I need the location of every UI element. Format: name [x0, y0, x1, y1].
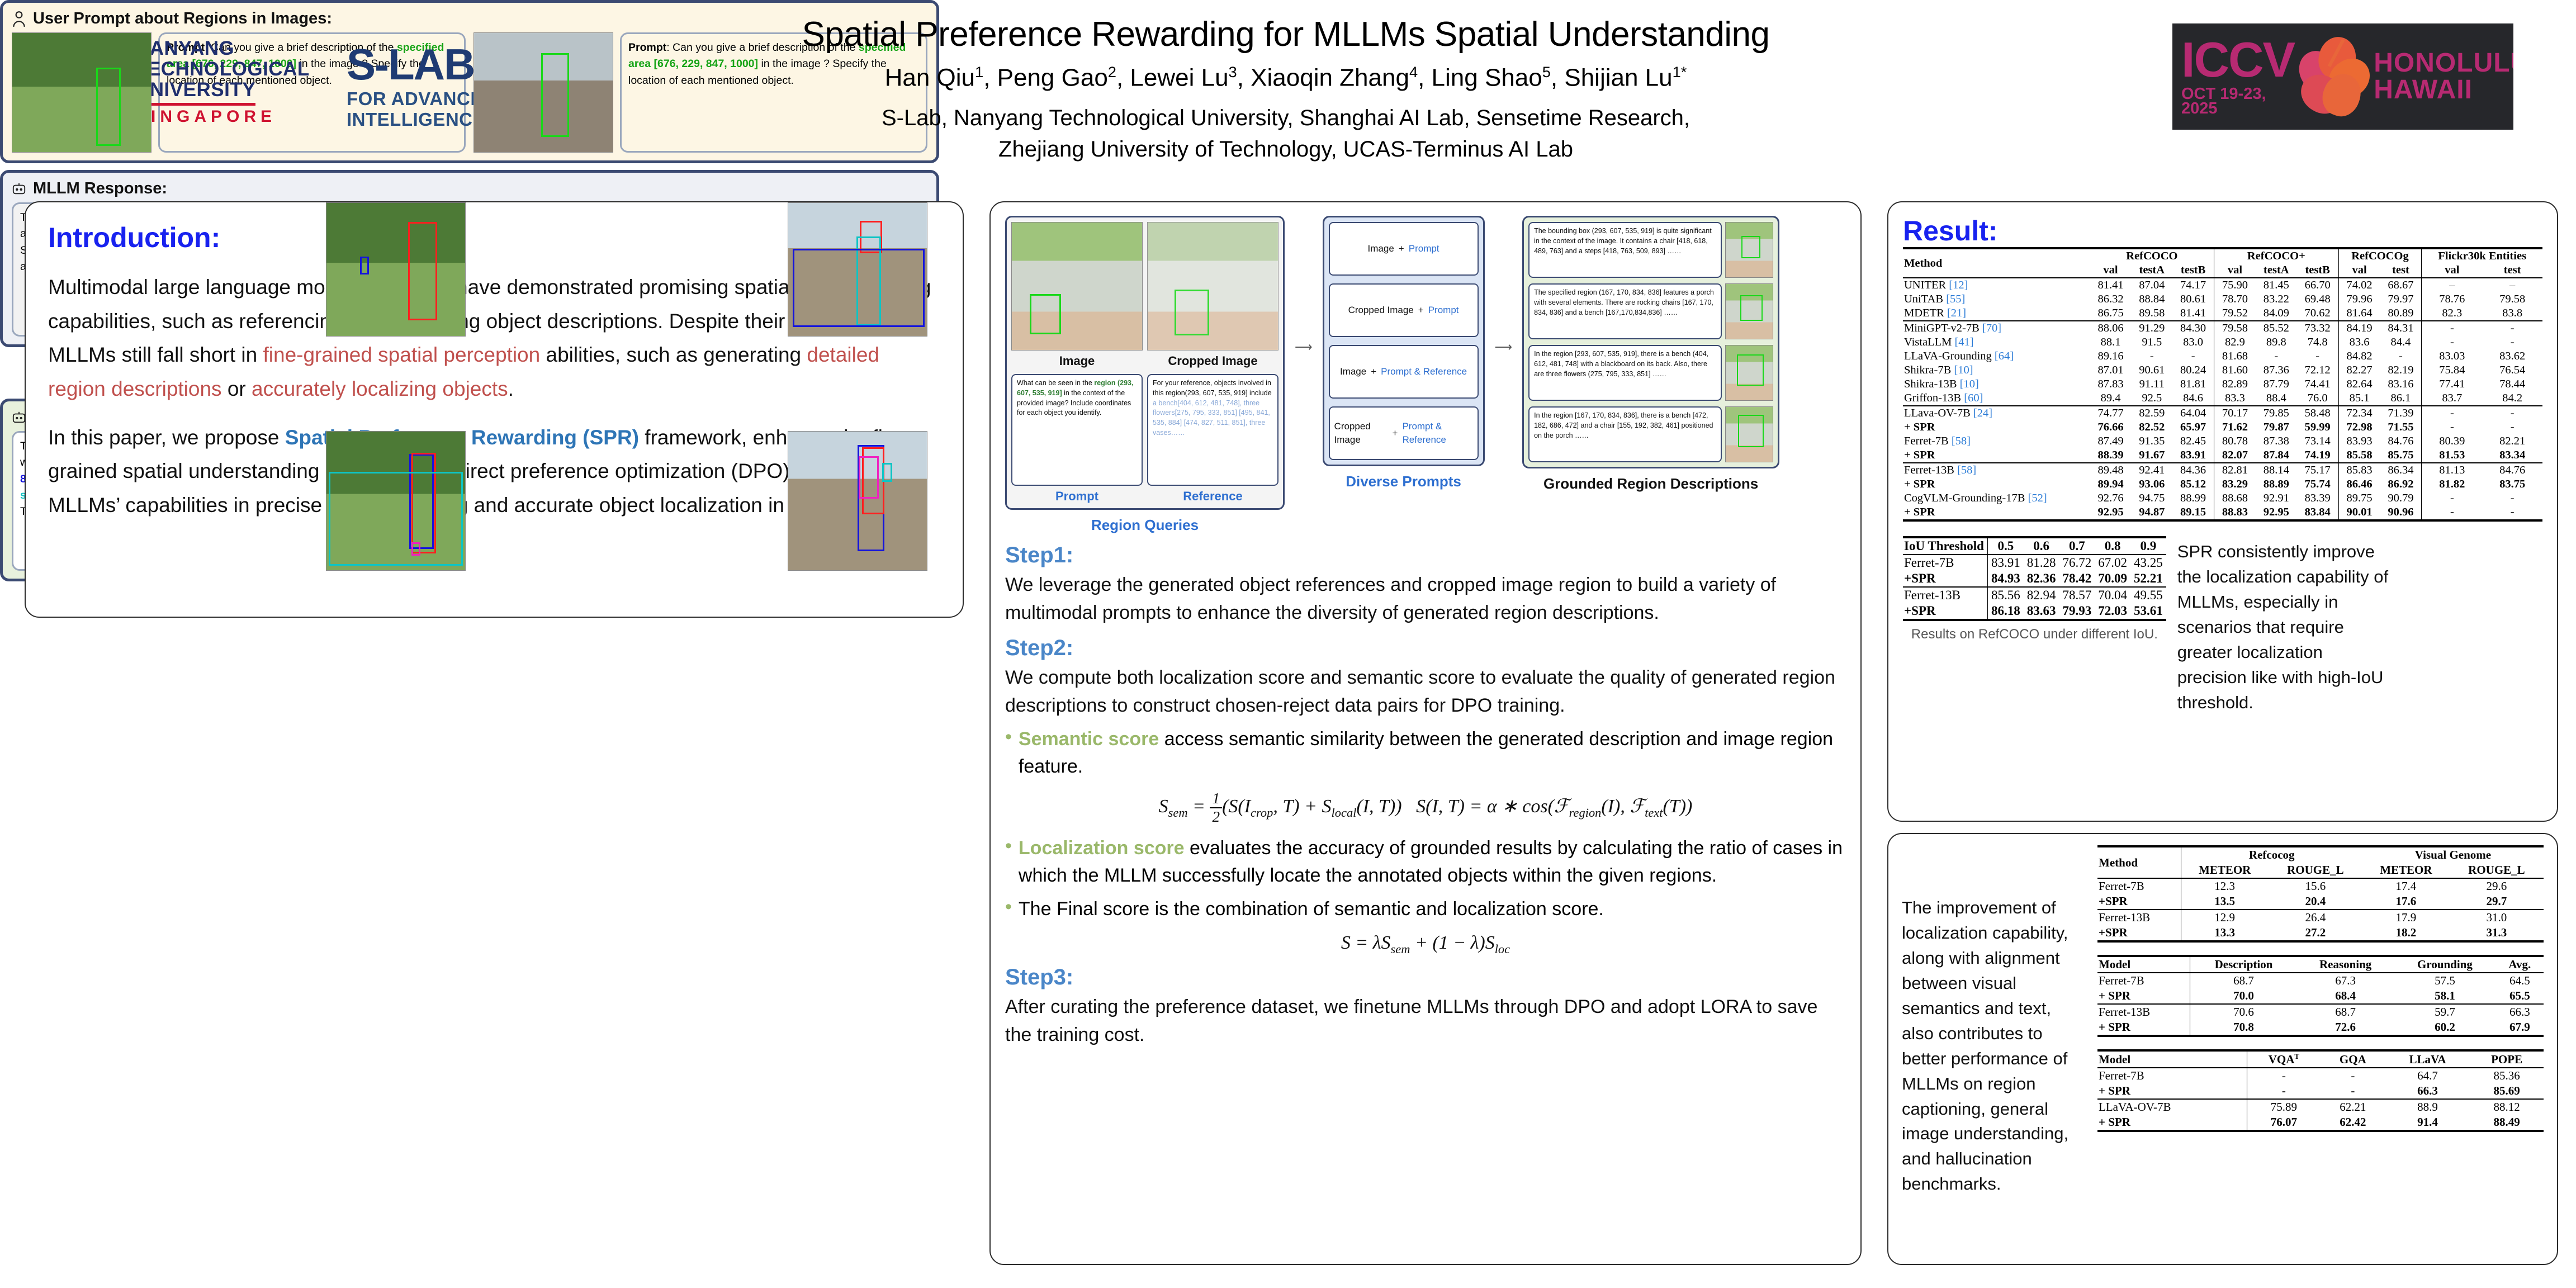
table-cell: -	[2321, 1068, 2385, 1083]
fig-ref-b: a bench[404, 612, 481, 748], three flowe…	[1153, 399, 1270, 437]
table-cell: 87.01	[2090, 363, 2132, 377]
citation-ref[interactable]: [21]	[1944, 307, 1966, 319]
table-cell: 72.12	[2297, 363, 2338, 377]
table-cell: 76.66	[2090, 420, 2132, 434]
grounded-thumb-1	[1725, 222, 1773, 278]
table-cell: 83.39	[2297, 491, 2338, 505]
table-cell: 74.19	[2297, 448, 2338, 463]
intro-p1-highlight-1: fine-grained spatial perception	[263, 343, 541, 366]
figure-prompt-label: Prompt	[1011, 489, 1143, 504]
table-cell: 86.18	[1987, 603, 2023, 620]
table-cell: 87.84	[2256, 448, 2297, 463]
table-cell: 83.0	[2172, 335, 2214, 349]
table-cell: -	[2422, 491, 2482, 505]
table-cell: 66.3	[2496, 1004, 2544, 1020]
table-cell: –	[2482, 278, 2542, 292]
table-cell: 71.55	[2380, 420, 2421, 434]
table-cell: 79.93	[2059, 603, 2095, 620]
prompt-combo-3-left: Image	[1340, 365, 1366, 378]
table-cell: 80.24	[2172, 363, 2214, 377]
table-row: LLaVA-OV-7B75.8962.2188.988.12	[2097, 1099, 2544, 1115]
row-label: CogVLM-Grounding-17B [52]	[1903, 491, 2090, 505]
citation-ref[interactable]: [58]	[1949, 435, 1971, 447]
table-cell: 87.49	[2090, 434, 2132, 448]
grounded-desc-3: In the region [293, 607, 535, 919], ther…	[1528, 345, 1722, 401]
prompt-combo-1: Image+Prompt	[1329, 222, 1479, 276]
table-row: Ferret-7B83.9181.2876.7267.0243.25	[1903, 555, 2166, 571]
table-cell: 90.79	[2380, 491, 2421, 505]
diverse-prompts-label: Diverse Prompts	[1323, 473, 1485, 490]
row-label: VistaLLM [41]	[1903, 335, 2090, 349]
iou-col-1: 0.6	[2024, 537, 2059, 555]
bullet-dot-1: •	[1005, 726, 1012, 781]
citation-ref[interactable]: [64]	[1992, 350, 2014, 362]
table-cell: 90.01	[2338, 505, 2380, 520]
main-group-refcoco: RefCOCO	[2090, 248, 2214, 263]
table-cell: 68.7	[2190, 973, 2297, 988]
citation-ref[interactable]: [12]	[1946, 279, 1968, 291]
table-cell: 68.7	[2297, 1004, 2394, 1020]
table-cell: 82.59	[2131, 406, 2172, 420]
table-cell: 83.93	[2338, 434, 2380, 448]
table-cell: -	[2422, 406, 2482, 420]
iccv-city: HONOLULU	[2374, 50, 2513, 77]
iou-col-3: 0.8	[2095, 537, 2130, 555]
table-cell: 85.69	[2470, 1083, 2544, 1099]
table-cell: -	[2422, 335, 2482, 349]
table-row: Ferret-13B12.926.417.931.0	[2097, 910, 2544, 925]
grounded-desc-1: The bounding box (293, 607, 535, 919] is…	[1528, 222, 1722, 278]
table-row: + SPR76.0762.4291.488.49	[2097, 1115, 2544, 1131]
main-sub-1: testA	[2131, 263, 2172, 278]
gen-col-1: GQA	[2321, 1050, 2385, 1068]
intro-p1-d: .	[508, 377, 514, 400]
table-cell: 79.58	[2214, 321, 2256, 335]
grounded-descriptions-column: The bounding box (293, 607, 535, 919] is…	[1522, 216, 1779, 493]
table-cell: -	[2482, 491, 2542, 505]
table-cell: 74.77	[2090, 406, 2132, 420]
figure-arrow-1-icon: ⟶	[1295, 340, 1313, 354]
equation-semantic-score: Ssem = 12(S(Icrop, T) + Slocal(I, T)) S(…	[1005, 790, 1846, 826]
table-cell: 74.02	[2338, 278, 2380, 292]
final-score-text: The Final score is the combination of se…	[1019, 896, 1604, 924]
cap-table-body: Ferret-7B12.315.617.429.6+SPR13.520.417.…	[2097, 878, 2544, 941]
bench-table-body: Ferret-7B68.767.357.564.5+ SPR70.068.458…	[2097, 973, 2544, 1036]
affiliation-line-1: S-Lab, Nanyang Technological University,…	[693, 102, 1878, 134]
table-cell: 66.3	[2385, 1083, 2470, 1099]
table-cell: 78.76	[2422, 292, 2482, 306]
iccv-state: HAWAII	[2374, 77, 2513, 103]
step3-title: Step3:	[1005, 965, 1846, 990]
ntu-line-2: TECHNOLOGICAL	[135, 59, 310, 79]
table-cell: -	[2422, 321, 2482, 335]
row-label: +SPR	[2097, 925, 2181, 941]
table-cell: 82.21	[2482, 434, 2542, 448]
prompt-combo-4-left: Cropped Image	[1334, 420, 1388, 447]
table-cell: 88.9	[2385, 1099, 2470, 1115]
table-cell: 72.6	[2297, 1020, 2394, 1036]
row-label: + SPR	[2097, 1020, 2190, 1036]
table-cell: 70.09	[2095, 571, 2130, 587]
ntu-line-1: NANYANG	[135, 38, 310, 59]
table-row: Griffon-13B [60]89.492.584.683.388.476.0…	[1903, 391, 2542, 406]
table-cell: 93.06	[2131, 477, 2172, 491]
iccv-name: ICCV	[2181, 37, 2294, 82]
result-panel: Result: Method RefCOCO RefCOCO+ RefCOCOg…	[1887, 201, 2558, 822]
table-cell: 84.82	[2338, 349, 2380, 363]
main-method-header: Method	[1903, 248, 2090, 278]
intro-p1-highlight-3: accurately localizing objects	[252, 377, 508, 400]
table-cell: 83.6	[2338, 335, 2380, 349]
intro-p1-b: abilities, such as generating	[540, 343, 807, 366]
row-label: + SPR	[2097, 1083, 2247, 1099]
table-cell: 79.85	[2256, 406, 2297, 420]
example-image-field-3	[326, 431, 466, 571]
table-cell: 91.67	[2131, 448, 2172, 463]
table-cell: 86.75	[2090, 306, 2132, 321]
table-cell: 75.84	[2422, 363, 2482, 377]
table-cell: 59.99	[2297, 420, 2338, 434]
table-cell: 90.61	[2131, 363, 2172, 377]
table-cell: 71.39	[2380, 406, 2421, 420]
table-cell: -	[2172, 349, 2214, 363]
row-label: + SPR	[2097, 988, 2190, 1004]
citation-ref[interactable]: [70]	[1980, 322, 2001, 334]
table-cell: 13.5	[2181, 894, 2269, 910]
ntu-line-3: UNIVERSITY	[135, 79, 310, 100]
result-side-note-1: SPR consistently improve the localizatio…	[2177, 536, 2390, 716]
row-label: MiniGPT-v2-7B [70]	[1903, 321, 2090, 335]
citation-ref[interactable]: [58]	[1954, 464, 1976, 476]
table-cell: 85.83	[2338, 463, 2380, 477]
main-group-refcocog: RefCOCOg	[2338, 248, 2422, 263]
gen-col-3: POPE	[2470, 1050, 2544, 1068]
table-row: +SPR86.1883.6379.9372.0353.61	[1903, 603, 2166, 620]
table-cell: 89.15	[2172, 505, 2214, 520]
iou-col-2: 0.7	[2059, 537, 2095, 555]
cap-sub-1: ROUGE_L	[2269, 863, 2362, 878]
table-cell: 80.61	[2172, 292, 2214, 306]
table-cell: 76.54	[2482, 363, 2542, 377]
region-queries-label: Region Queries	[1005, 517, 1285, 534]
table-cell: 91.11	[2131, 377, 2172, 391]
bullet-dot-2: •	[1005, 835, 1012, 890]
citation-ref[interactable]: [52]	[2025, 492, 2047, 504]
table-cell: 81.81	[2172, 377, 2214, 391]
table-cell: -	[2256, 349, 2297, 363]
grounded-desc-2: The specified region (167, 170, 834, 836…	[1528, 283, 1722, 339]
table-cell: 64.04	[2172, 406, 2214, 420]
table-cell: 87.04	[2131, 278, 2172, 292]
table-cell: 81.82	[2422, 477, 2482, 491]
table-row: LLaVA-Grounding [64]89.16--81.68--84.82-…	[1903, 349, 2542, 363]
table-cell: 92.91	[2256, 491, 2297, 505]
table-row: Shikra-13B [10]87.8391.1181.8182.8987.79…	[1903, 377, 2542, 391]
table-cell: 91.4	[2385, 1115, 2470, 1131]
table-cell: 78.42	[2059, 571, 2095, 587]
table-row: VistaLLM [41]88.191.583.082.989.874.883.…	[1903, 335, 2542, 349]
prompt-combo-1-left: Image	[1368, 242, 1394, 255]
equation-final-score: S = λSsem + (1 − λ)Sloc	[1005, 932, 1846, 956]
table-cell: 76.07	[2247, 1115, 2320, 1131]
table-row: Shikra-7B [10]87.0190.6180.2481.6087.367…	[1903, 363, 2542, 377]
citation-ref[interactable]: [41]	[1952, 336, 1973, 348]
author-list: Han Qiu1, Peng Gao2, Lewei Lu3, Xiaoqin …	[693, 63, 1878, 92]
table-cell: 83.75	[2482, 477, 2542, 491]
table-row: Ferret-13B85.5682.9478.5770.0449.55	[1903, 587, 2166, 603]
row-label: Ferret-7B	[2097, 1068, 2247, 1083]
row-label: LLava-OV-7B [24]	[1903, 406, 2090, 420]
grounded-descriptions-label: Grounded Region Descriptions	[1522, 475, 1779, 493]
table-cell: 83.7	[2422, 391, 2482, 406]
prompt-combo-4-right: Prompt & Reference	[1402, 420, 1472, 447]
table-cell: 17.4	[2362, 878, 2450, 894]
table-cell: 78.57	[2059, 587, 2095, 603]
figure-image-cropped	[1147, 222, 1278, 351]
table-cell: 65.97	[2172, 420, 2214, 434]
table-cell: 72.98	[2338, 420, 2380, 434]
fig-prompt-a: What can be seen in the	[1017, 379, 1094, 387]
table-cell: 17.9	[2362, 910, 2450, 925]
main-group-flickr: Flickr30k Entities	[2422, 248, 2542, 263]
table-cell: 83.29	[2214, 477, 2256, 491]
table-cell: 79.96	[2338, 292, 2380, 306]
table-cell: 88.1	[2090, 335, 2132, 349]
table-cell: 74.41	[2297, 377, 2338, 391]
table-cell: 80.78	[2214, 434, 2256, 448]
row-label: + SPR	[1903, 420, 2090, 434]
example-image-trail-3	[788, 431, 927, 571]
row-label: Ferret-13B [58]	[1903, 463, 2090, 477]
region-queries-column: Image Cropped Image What can be se	[1005, 216, 1285, 534]
table-cell: 88.49	[2470, 1115, 2544, 1131]
table-cell: 82.81	[2214, 463, 2256, 477]
table-row: +SPR84.9382.3678.4270.0952.21	[1903, 571, 2166, 587]
example-image-trail-1	[473, 32, 613, 153]
row-label: Ferret-13B	[2097, 910, 2181, 925]
row-label: Ferret-7B	[2097, 973, 2190, 988]
row-label: +SPR	[1903, 571, 1987, 587]
table-cell: 86.34	[2380, 463, 2421, 477]
table-cell: 79.87	[2256, 420, 2297, 434]
table-cell: 70.62	[2297, 306, 2338, 321]
table-cell: 84.31	[2380, 321, 2421, 335]
table-cell: 29.6	[2450, 878, 2544, 894]
table-cell: 60.2	[2394, 1020, 2495, 1036]
table-cell: 81.13	[2422, 463, 2482, 477]
table-cell: 70.04	[2095, 587, 2130, 603]
table-cell: 92.76	[2090, 491, 2132, 505]
figure-image-label: Image	[1011, 354, 1143, 368]
table-cell: 84.6	[2172, 391, 2214, 406]
iccv-dates: OCT 19-23, 2025	[2181, 87, 2294, 116]
poster-title: Spatial Preference Rewarding for MLLMs S…	[693, 15, 1878, 54]
result-side-note-2: The improvement of localization capabili…	[1902, 845, 2086, 1197]
table-cell: 86.32	[2090, 292, 2132, 306]
table-cell: 49.55	[2130, 587, 2166, 603]
table-cell: 88.39	[2090, 448, 2132, 463]
table-cell: -	[2297, 349, 2338, 363]
table-cell: 83.62	[2482, 349, 2542, 363]
gen-table-body: Ferret-7B--64.785.36+ SPR--66.385.69LLaV…	[2097, 1068, 2544, 1131]
table-cell: 79.97	[2380, 292, 2421, 306]
cap-group-refcocog: Refcocog	[2181, 846, 2362, 863]
table-cell: 84.76	[2380, 434, 2421, 448]
table-cell: 85.12	[2172, 477, 2214, 491]
table-cell: 27.2	[2269, 925, 2362, 941]
table-row: MDETR [21]86.7589.5881.4179.5284.0970.62…	[1903, 306, 2542, 321]
table-cell: 78.70	[2214, 292, 2256, 306]
table-cell: 79.52	[2214, 306, 2256, 321]
grounded-desc-4: In the region [167, 170, 834, 836], ther…	[1528, 406, 1722, 462]
gen-col-2: LLaVA	[2385, 1050, 2470, 1068]
grounded-thumb-3	[1725, 345, 1773, 401]
table-cell: 81.60	[2214, 363, 2256, 377]
fig-ref-a: For your reference, objects involved in …	[1153, 379, 1272, 397]
table-cell: -	[2247, 1083, 2320, 1099]
table-cell: 52.21	[2130, 571, 2166, 587]
table-cell: 89.8	[2256, 335, 2297, 349]
table-cell: 88.84	[2131, 292, 2172, 306]
cap-sub-0: METEOR	[2181, 863, 2269, 878]
bench-model-header: Model	[2097, 956, 2190, 973]
table-cell: 75.74	[2297, 477, 2338, 491]
table-cell: 83.91	[1987, 555, 2023, 571]
table-row: CogVLM-Grounding-17B [52]92.7694.7588.99…	[1903, 491, 2542, 505]
table-cell: 31.3	[2450, 925, 2544, 941]
table-cell: 89.48	[2090, 463, 2132, 477]
table-cell: 59.7	[2394, 1004, 2495, 1020]
table-cell: 83.91	[2172, 448, 2214, 463]
table-cell: 82.94	[2024, 587, 2059, 603]
table-cell: 83.63	[2024, 603, 2059, 620]
main-sub-2: testB	[2172, 263, 2214, 278]
row-label: +SPR	[1903, 603, 1987, 620]
table-cell: 90.96	[2380, 505, 2421, 520]
main-group-refcocoplus: RefCOCO+	[2214, 248, 2339, 263]
bench-col-2: Grounding	[2394, 956, 2495, 973]
table-cell: 64.7	[2385, 1068, 2470, 1083]
table-cell: 83.34	[2482, 448, 2542, 463]
table-row: UniTAB [55]86.3288.8480.6178.7083.2269.4…	[1903, 292, 2542, 306]
table-cell: 85.1	[2338, 391, 2380, 406]
table-cell: 88.06	[2090, 321, 2132, 335]
table-row: UNITER [12]81.4187.0474.1775.9081.4566.7…	[1903, 278, 2542, 292]
table-cell: 82.45	[2172, 434, 2214, 448]
title-block: Spatial Preference Rewarding for MLLMs S…	[693, 15, 1878, 165]
table-cell: 87.36	[2256, 363, 2297, 377]
row-label: Griffon-13B [60]	[1903, 391, 2090, 406]
table-cell: 72.03	[2095, 603, 2130, 620]
table-cell: 83.03	[2422, 349, 2482, 363]
table-row: +SPR13.520.417.629.7	[2097, 894, 2544, 910]
step3-text: After curating the preference dataset, w…	[1005, 993, 1846, 1049]
table-cell: 84.09	[2256, 306, 2297, 321]
table-row: + SPR70.068.458.165.5	[2097, 988, 2544, 1004]
table-cell: 13.3	[2181, 925, 2269, 941]
table-cell: 67.9	[2496, 1020, 2544, 1036]
table-row: LLava-OV-7B [24]74.7782.5964.0470.1779.8…	[1903, 406, 2542, 420]
example-image-trail-2	[788, 202, 927, 337]
table-cell: 88.68	[2214, 491, 2256, 505]
table-cell: -	[2482, 505, 2542, 520]
table-row: Ferret-7B [58]87.4991.3582.4580.7887.387…	[1903, 434, 2542, 448]
row-label: Ferret-13B	[1903, 587, 1987, 603]
table-cell: 71.62	[2214, 420, 2256, 434]
figure-cropped-label: Cropped Image	[1147, 354, 1278, 368]
prompt-combo-3: Image+Prompt & Reference	[1329, 345, 1479, 399]
figure-reference-label: Reference	[1147, 489, 1278, 504]
table-cell: 64.5	[2496, 973, 2544, 988]
table-cell: 85.52	[2256, 321, 2297, 335]
table-row: +SPR13.327.218.231.3	[2097, 925, 2544, 941]
affiliation-line-2: Zhejiang University of Technology, UCAS-…	[693, 134, 1878, 165]
row-label: Ferret-7B	[1903, 555, 1987, 571]
table-row: + SPR76.6682.5265.9771.6279.8759.9972.98…	[1903, 420, 2542, 434]
citation-ref[interactable]: [24]	[1971, 407, 1992, 419]
table-cell: 20.4	[2269, 894, 2362, 910]
table-cell: 67.3	[2297, 973, 2394, 988]
citation-ref[interactable]: [55]	[1943, 293, 1965, 305]
table-cell: 89.94	[2090, 477, 2132, 491]
table-cell: 85.58	[2338, 448, 2380, 463]
semantic-score-label: Semantic score	[1019, 728, 1159, 750]
table-cell: 77.41	[2422, 377, 2482, 391]
method-panel: Image Cropped Image What can be se	[989, 201, 1862, 1265]
citation-ref[interactable]: [60]	[1961, 392, 1983, 404]
table-cell: 88.89	[2256, 477, 2297, 491]
table-cell: 80.89	[2380, 306, 2421, 321]
table-cell: 75.89	[2247, 1099, 2320, 1115]
row-label: Ferret-13B	[2097, 1004, 2190, 1020]
table-cell: 53.61	[2130, 603, 2166, 620]
intro-p1-c: or	[222, 377, 252, 400]
table-cell: 26.4	[2269, 910, 2362, 925]
table-cell: 29.7	[2450, 894, 2544, 910]
table-cell: 81.41	[2090, 278, 2132, 292]
table-cell: 65.5	[2496, 988, 2544, 1004]
main-results-table: Method RefCOCO RefCOCO+ RefCOCOg Flickr3…	[1903, 247, 2542, 522]
citation-ref[interactable]: [10]	[1957, 378, 1979, 390]
table-cell: 91.5	[2131, 335, 2172, 349]
table-cell: 85.36	[2470, 1068, 2544, 1083]
table-cell: 82.19	[2380, 363, 2421, 377]
example-image-field-2	[326, 202, 466, 337]
table-cell: 89.4	[2090, 391, 2132, 406]
table-cell: 84.19	[2338, 321, 2380, 335]
pipeline-figure: Image Cropped Image What can be se	[1005, 216, 1846, 534]
table-cell: 84.36	[2172, 463, 2214, 477]
table-cell: 82.52	[2131, 420, 2172, 434]
table-row: Ferret-7B--64.785.36	[2097, 1068, 2544, 1083]
citation-ref[interactable]: [10]	[1951, 364, 1973, 376]
table-cell: 12.3	[2181, 878, 2269, 894]
row-label: MDETR [21]	[1903, 306, 2090, 321]
table-cell: 82.36	[2024, 571, 2059, 587]
table-cell: 86.46	[2338, 477, 2380, 491]
table-cell: 70.8	[2190, 1020, 2297, 1036]
iccv-logo: ICCV OCT 19-23, 2025 HONOLULU HAWAII	[2172, 23, 2513, 130]
row-label: + SPR	[1903, 477, 2090, 491]
main-table-body: UNITER [12]81.4187.0474.1775.9081.4566.7…	[1903, 278, 2542, 520]
iou-col-0: 0.5	[1987, 537, 2023, 555]
table-row: Ferret-7B68.767.357.564.5	[2097, 973, 2544, 988]
semantic-score-bullet: • Semantic score access semantic similar…	[1005, 726, 1846, 781]
figure-prompt-box: What can be seen in the region (293, 607…	[1011, 374, 1143, 486]
prompt-combo-1-right: Prompt	[1409, 242, 1439, 255]
table-cell: 18.2	[2362, 925, 2450, 941]
table-cell: 84.76	[2482, 463, 2542, 477]
